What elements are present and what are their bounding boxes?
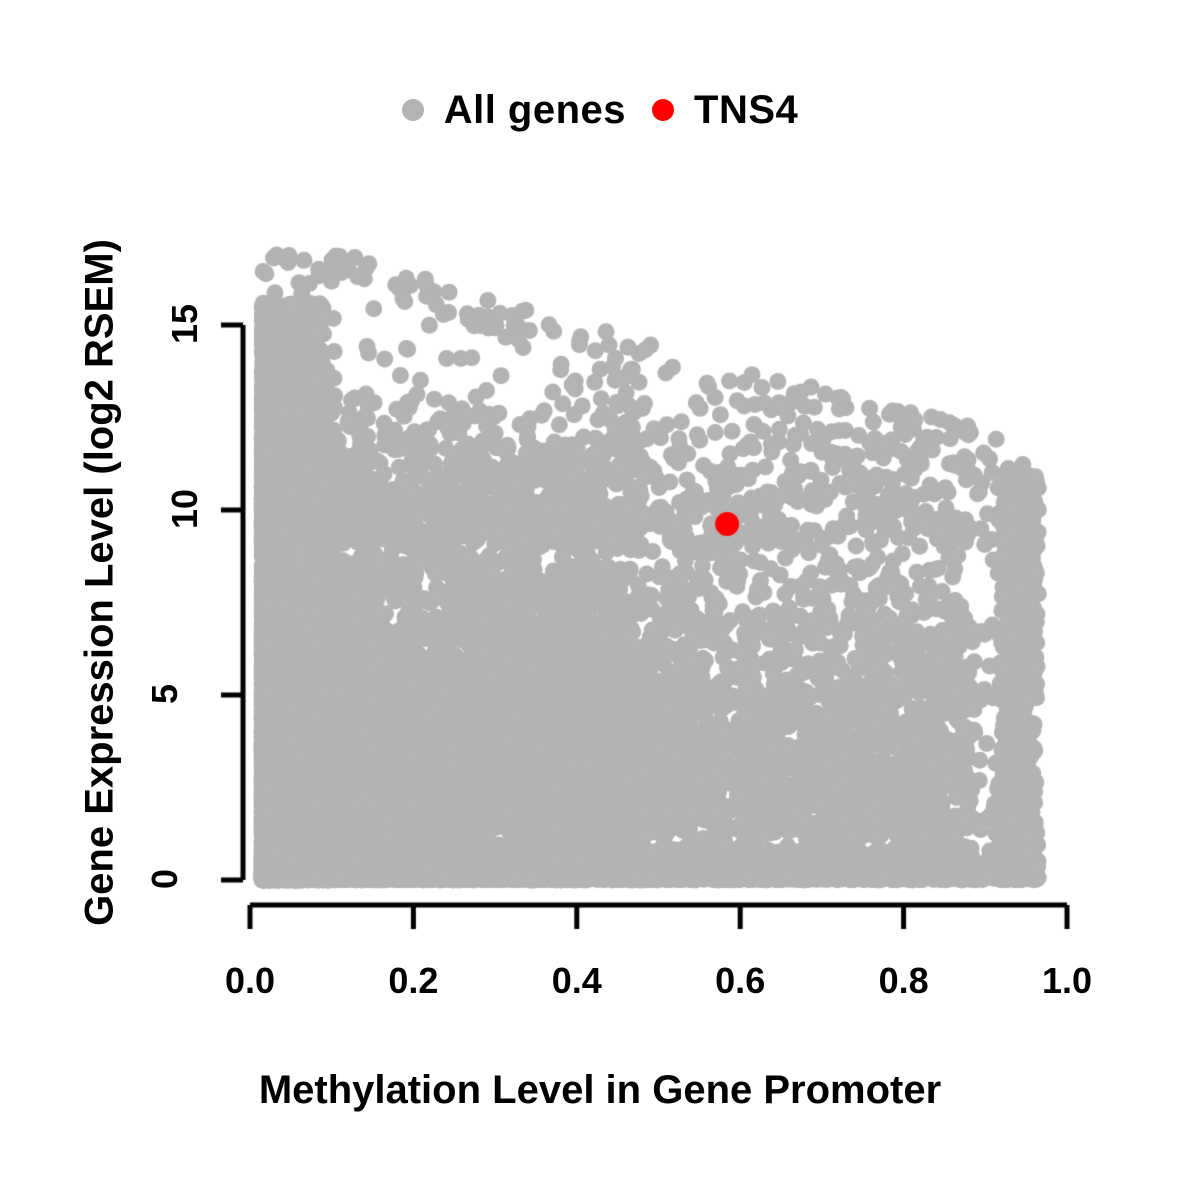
legend-label-all-genes: All genes: [444, 88, 626, 133]
y-tick-label: 10: [164, 489, 206, 529]
legend-item-all-genes: All genes: [402, 88, 626, 133]
y-axis-title: Gene Expression Level (log2 RSEM): [78, 0, 123, 1183]
x-tick-label: 0.4: [552, 960, 602, 1002]
legend-marker-tns4-icon: [652, 99, 674, 121]
legend-marker-all-genes-icon: [402, 99, 424, 121]
x-tick-label: 0.6: [715, 960, 765, 1002]
y-tick-label: 0: [144, 869, 186, 889]
x-tick-label: 0.2: [388, 960, 438, 1002]
x-tick-label: 1.0: [1042, 960, 1092, 1002]
x-tick-label: 0.8: [879, 960, 929, 1002]
y-tick-label: 5: [144, 684, 186, 704]
scatter-plot-figure: All genes TNS4 Methylation Level in Gene…: [0, 0, 1200, 1200]
x-axis-title: Methylation Level in Gene Promoter: [0, 1068, 1200, 1113]
legend-label-tns4: TNS4: [694, 88, 798, 133]
legend: All genes TNS4: [0, 82, 1200, 138]
legend-item-tns4: TNS4: [652, 88, 798, 133]
scatter-plot-canvas: [0, 0, 1200, 1200]
x-tick-label: 0.0: [225, 960, 275, 1002]
y-tick-label: 15: [164, 304, 206, 344]
